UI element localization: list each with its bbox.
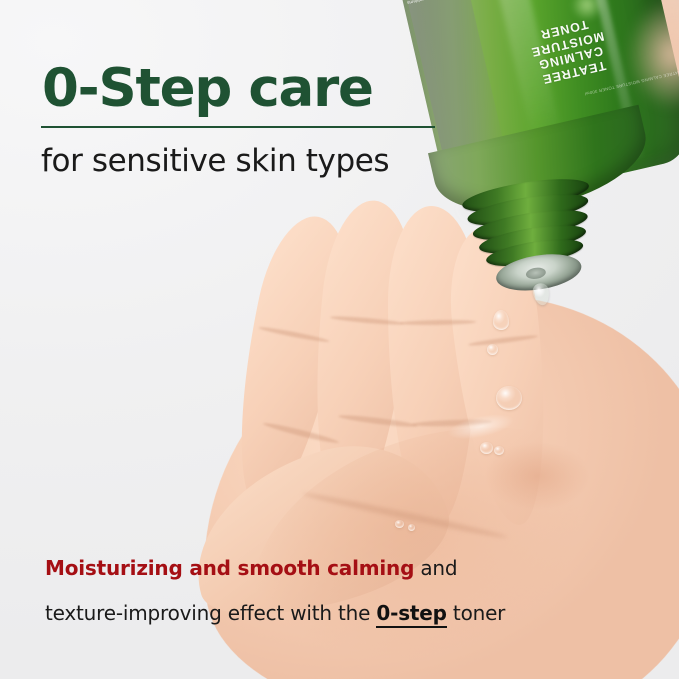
toner-droplet: [487, 344, 498, 355]
toner-droplet: [494, 446, 504, 455]
page-title: 0-Step care: [42, 60, 373, 118]
page-subtitle: for sensitive skin types: [41, 141, 389, 181]
footer-copy: Moisturizing and smooth calming and text…: [45, 546, 645, 636]
promo-banner: Teatree line has provides a basic skinca…: [0, 0, 679, 679]
footer-line-2-prefix: texture-improving effect with the: [45, 601, 376, 625]
footer-line-2-suffix: toner: [447, 601, 505, 625]
toner-droplet: [496, 386, 522, 410]
toner-droplet: [395, 520, 404, 528]
toner-droplet: [408, 524, 415, 531]
footer-line-1: Moisturizing and smooth calming and: [45, 546, 645, 591]
footer-highlight-red: Moisturizing and smooth calming: [45, 556, 414, 580]
product-bottle: Teatree line has provides a basic skinca…: [410, 0, 679, 280]
footer-line-2: texture-improving effect with the 0-step…: [45, 591, 645, 636]
footer-line-1-rest: and: [414, 556, 457, 580]
toner-droplet: [480, 442, 493, 454]
footer-emphasis-0step: 0-step: [376, 601, 446, 628]
toner-droplet: [493, 310, 509, 330]
bottle-neck: [460, 173, 603, 300]
title-underline: [41, 126, 435, 128]
